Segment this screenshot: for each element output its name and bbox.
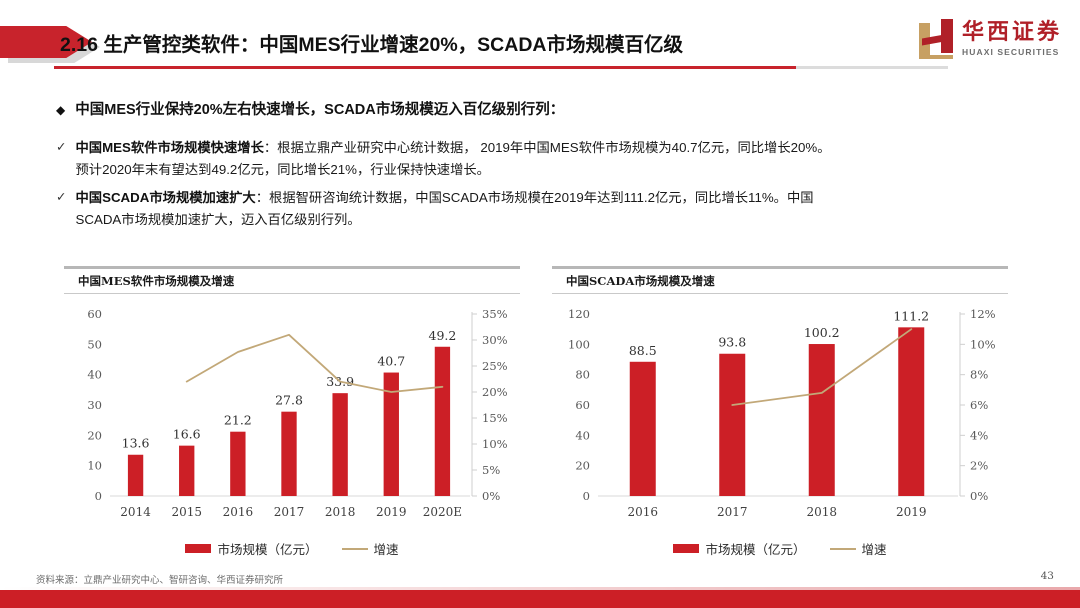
svg-text:49.2: 49.2 xyxy=(429,328,457,343)
svg-text:10%: 10% xyxy=(970,337,996,351)
svg-text:0: 0 xyxy=(583,489,590,503)
svg-text:20: 20 xyxy=(575,459,590,473)
list-item: ✓ 中国MES软件市场规模快速增长：根据立鼎产业研究中心统计数据， 2019年中… xyxy=(56,137,1024,180)
chart-plot-area: 01020304050600%5%10%15%20%25%30%35%13.61… xyxy=(64,300,520,556)
list-item-body: 中国SCADA市场规模加速扩大：根据智研咨询统计数据，中国SCADA市场规模在2… xyxy=(75,187,813,230)
page-number: 43 xyxy=(1041,570,1054,582)
diamond-bullet-icon: ◆ xyxy=(56,100,65,120)
svg-text:10: 10 xyxy=(87,459,102,473)
svg-text:40.7: 40.7 xyxy=(377,354,405,369)
list-item-body: 中国MES软件市场规模快速增长：根据立鼎产业研究中心统计数据， 2019年中国M… xyxy=(75,137,830,180)
svg-text:20: 20 xyxy=(87,428,102,442)
legend-label-line: 增速 xyxy=(862,539,887,558)
svg-text:2016: 2016 xyxy=(627,505,658,519)
legend-swatch-line xyxy=(342,548,368,550)
svg-text:120: 120 xyxy=(568,307,590,321)
svg-text:27.8: 27.8 xyxy=(275,393,303,408)
panel-top-rule xyxy=(64,266,520,269)
svg-text:12%: 12% xyxy=(970,307,996,321)
svg-text:40: 40 xyxy=(87,368,102,382)
svg-text:88.5: 88.5 xyxy=(629,343,657,358)
source-note: 资料来源：立鼎产业研究中心、智研咨询、华西证券研究所 xyxy=(36,572,283,586)
logo-name-en: HUAXI SECURITIES xyxy=(962,48,1059,57)
legend-label-line: 增速 xyxy=(374,539,399,558)
chart-plot-area: 0204060801001200%2%4%6%8%10%12%88.593.81… xyxy=(552,300,1008,556)
list-item-line1: ：根据立鼎产业研究中心统计数据， 2019年中国MES软件市场规模为40.7亿元… xyxy=(264,140,831,155)
svg-text:0%: 0% xyxy=(482,489,500,503)
chart-title: 中国MES软件市场规模及增速 xyxy=(78,273,234,289)
svg-text:100: 100 xyxy=(568,337,590,351)
svg-text:25%: 25% xyxy=(482,359,508,373)
svg-text:6%: 6% xyxy=(970,398,988,412)
svg-text:60: 60 xyxy=(87,307,102,321)
svg-text:2014: 2014 xyxy=(120,505,151,519)
page-title: 2.16 生产管控类软件：中国MES行业增速20%，SCADA市场规模百亿级 xyxy=(60,28,940,57)
svg-text:2016: 2016 xyxy=(223,505,254,519)
list-item-lead-bold: 中国SCADA市场规模加速扩大 xyxy=(75,190,255,205)
slide-header: 2.16 生产管控类软件：中国MES行业增速20%，SCADA市场规模百亿级 华… xyxy=(0,0,1080,80)
svg-text:2%: 2% xyxy=(970,459,988,473)
svg-text:0: 0 xyxy=(95,489,102,503)
chart-title: 中国SCADA市场规模及增速 xyxy=(566,273,715,289)
list-item-line1: ：根据智研咨询统计数据，中国SCADA市场规模在2019年达到111.2亿元，同… xyxy=(256,190,814,205)
svg-text:2018: 2018 xyxy=(325,505,356,519)
svg-text:50: 50 xyxy=(87,337,102,351)
chart-panel-mes: 中国MES软件市场规模及增速 01020304050600%5%10%15%20… xyxy=(64,266,520,556)
svg-text:20%: 20% xyxy=(482,385,508,399)
svg-text:30: 30 xyxy=(87,398,102,412)
svg-text:111.2: 111.2 xyxy=(893,308,929,323)
logo-name-cn: 华西证券 xyxy=(962,22,1062,44)
check-bullet-icon: ✓ xyxy=(56,187,66,208)
panel-bottom-rule xyxy=(552,293,1008,294)
legend-swatch-line xyxy=(830,548,856,550)
check-bullet-icon: ✓ xyxy=(56,137,66,158)
legend-item-line: 增速 xyxy=(830,539,887,558)
svg-text:13.6: 13.6 xyxy=(122,436,150,451)
bullet-list: ◆ 中国MES行业保持20%左右快速增长，SCADA市场规模迈入百亿级别行列： … xyxy=(56,100,1024,237)
svg-text:2019: 2019 xyxy=(376,505,407,519)
svg-text:2019: 2019 xyxy=(896,505,927,519)
svg-text:100.2: 100.2 xyxy=(804,325,840,340)
svg-text:0%: 0% xyxy=(970,489,988,503)
svg-text:21.2: 21.2 xyxy=(224,413,252,428)
svg-text:4%: 4% xyxy=(970,428,988,442)
svg-text:60: 60 xyxy=(575,398,590,412)
svg-text:30%: 30% xyxy=(482,333,508,347)
legend-label-bar: 市场规模（亿元） xyxy=(705,539,805,558)
legend-swatch-bar xyxy=(185,544,211,553)
huaxi-h-mark-icon xyxy=(919,19,955,59)
svg-text:16.6: 16.6 xyxy=(173,427,201,442)
chart-panel-scada: 中国SCADA市场规模及增速 0204060801001200%2%4%6%8%… xyxy=(552,266,1008,556)
lead-bullet-text: 中国MES行业保持20%左右快速增长，SCADA市场规模迈入百亿级别行列： xyxy=(75,100,564,120)
legend-label-bar: 市场规模（亿元） xyxy=(217,539,317,558)
legend-item-bar: 市场规模（亿元） xyxy=(673,539,805,558)
chart-legend: 市场规模（亿元） 增速 xyxy=(552,539,1008,558)
svg-text:10%: 10% xyxy=(482,437,508,451)
svg-text:2017: 2017 xyxy=(274,505,305,519)
list-item-lead-bold: 中国MES软件市场规模快速增长 xyxy=(75,140,263,155)
svg-text:2018: 2018 xyxy=(806,505,837,519)
svg-text:80: 80 xyxy=(575,368,590,382)
list-item: ✓ 中国SCADA市场规模加速扩大：根据智研咨询统计数据，中国SCADA市场规模… xyxy=(56,187,1024,230)
svg-text:15%: 15% xyxy=(482,411,508,425)
svg-text:2015: 2015 xyxy=(171,505,202,519)
footer-bar xyxy=(0,590,1080,608)
lead-bullet: ◆ 中国MES行业保持20%左右快速增长，SCADA市场规模迈入百亿级别行列： xyxy=(56,100,1024,120)
svg-text:2020E: 2020E xyxy=(423,505,462,519)
logo-text: 华西证券 HUAXI SECURITIES xyxy=(962,22,1062,57)
company-logo: 华西证券 HUAXI SECURITIES xyxy=(919,16,1062,62)
panel-bottom-rule xyxy=(64,293,520,294)
svg-text:8%: 8% xyxy=(970,368,988,382)
list-item-line2: SCADA市场规模加速扩大，迈入百亿级别行列。 xyxy=(75,212,360,227)
svg-text:5%: 5% xyxy=(482,463,500,477)
legend-swatch-bar xyxy=(673,544,699,553)
svg-text:40: 40 xyxy=(575,428,590,442)
list-item-line2: 预计2020年末有望达到49.2亿元，同比增长21%，行业保持快速增长。 xyxy=(75,162,490,177)
legend-item-line: 增速 xyxy=(342,539,399,558)
svg-text:35%: 35% xyxy=(482,307,508,321)
legend-item-bar: 市场规模（亿元） xyxy=(185,539,317,558)
panel-top-rule xyxy=(552,266,1008,269)
title-divider-red xyxy=(54,66,796,69)
svg-text:93.8: 93.8 xyxy=(718,335,746,350)
chart-legend: 市场规模（亿元） 增速 xyxy=(64,539,520,558)
svg-text:2017: 2017 xyxy=(717,505,748,519)
